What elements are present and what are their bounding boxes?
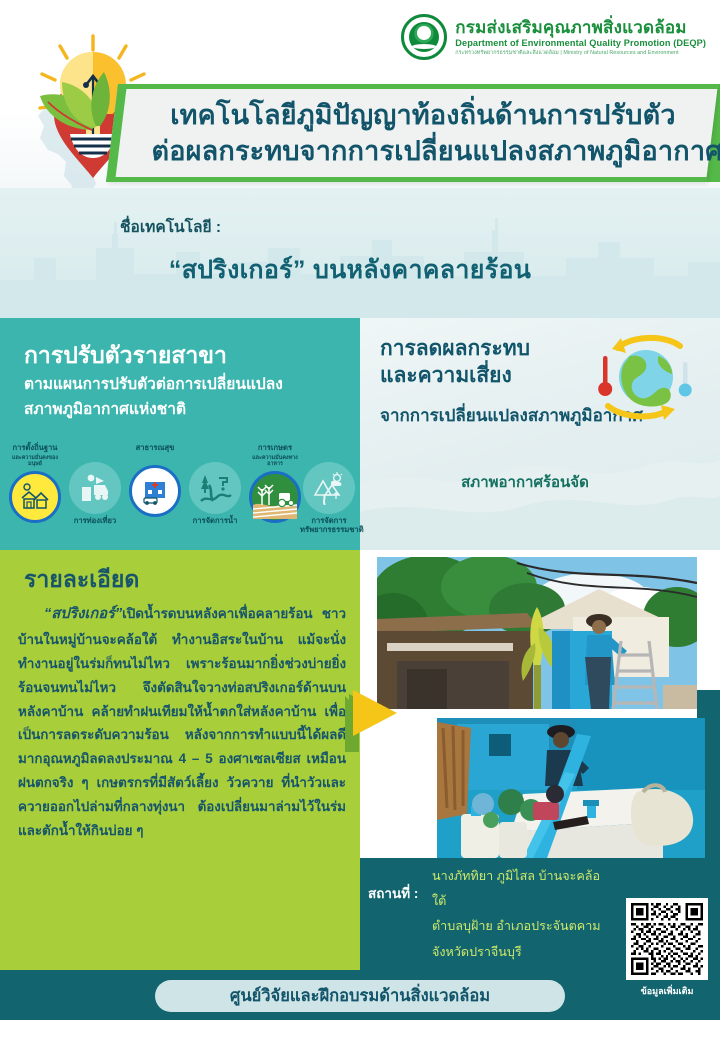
- adaptation-heading: การปรับตัวรายสาขา: [24, 338, 227, 374]
- technology-label: ชื่อเทคโนโลยี :: [120, 214, 221, 239]
- detail-title: รายละเอียด: [24, 562, 139, 598]
- sector-item-agriculture[interactable]: การเกษตร และความมั่นคงทางอาหาร: [246, 444, 304, 523]
- location-lines: นางภัททิยา ภูมิไสล บ้านจะคล้อใต้ ตำบลบุฝ…: [432, 864, 612, 965]
- sector-item-health[interactable]: สาธารณสุข: [126, 444, 184, 517]
- sector-icon-strip: การตั้งถิ่นฐาน และความมั่นคงของมนุษย์: [0, 440, 360, 550]
- sector-item-water[interactable]: การจัดการน้ำ: [186, 462, 244, 526]
- sector-label-settlement: การตั้งถิ่นฐาน: [6, 444, 64, 453]
- poster-title-line1: เทคโนโลยีภูมิปัญญาท้องถิ่นด้านการปรับตัว: [151, 98, 694, 134]
- sector-item-tourism[interactable]: การท่องเที่ยว: [66, 462, 124, 526]
- sector-label-tourism: การท่องเที่ยว: [66, 517, 124, 526]
- adaptation-subheading-text: ตามแผนการปรับตัวต่อการเปลี่ยนแปลง สภาพภู…: [24, 376, 283, 418]
- detail-keyword: “สปริงเกอร์”: [44, 606, 122, 622]
- photo-roof-sprinkler: [377, 557, 697, 709]
- poster-root: กรมส่งเสริมคุณภาพสิ่งแวดล้อม Department …: [0, 0, 720, 1040]
- mitigation-heading: การลดผลกระทบ และความเสี่ยง: [380, 336, 530, 390]
- natural-resources-icon: [303, 462, 355, 514]
- photo-pipe-assembly: [437, 718, 705, 858]
- poster-header: กรมส่งเสริมคุณภาพสิ่งแวดล้อม Department …: [0, 0, 720, 200]
- settlement-icon: [9, 471, 61, 523]
- location-band: สถานที่ : นางภัททิยา ภูมิไสล บ้านจะคล้อใ…: [360, 858, 720, 970]
- agriculture-icon: [249, 471, 301, 523]
- title-ribbon: เทคโนโลยีภูมิปัญญาท้องถิ่นด้านการปรับตัว…: [106, 84, 718, 182]
- qr-code-icon[interactable]: [626, 898, 708, 980]
- detail-body: “สปริงเกอร์”เปิดน้ำรดบนหลังคาเพื่อคลายร้…: [18, 602, 346, 843]
- deqp-logo: กรมส่งเสริมคุณภาพสิ่งแวดล้อม Department …: [401, 14, 706, 60]
- location-line1: นางภัททิยา ภูมิไสล บ้านจะคล้อใต้: [432, 864, 612, 914]
- sector-sublabel-natural-resources: ทรัพยากรธรรมชาติ: [300, 526, 358, 535]
- poster-title-line2: ต่อผลกระทบจากการเปลี่ยนแปลงสภาพภูมิอากาศ: [151, 134, 694, 170]
- location-label: สถานที่ :: [368, 882, 418, 904]
- sector-item-settlement[interactable]: การตั้งถิ่นฐาน และความมั่นคงของมนุษย์: [6, 444, 64, 523]
- qr-caption: ข้อมูลเพิ่มเติม: [626, 984, 708, 998]
- health-icon: [129, 465, 181, 517]
- sector-label-health: สาธารณสุข: [126, 444, 184, 453]
- sector-item-natural-resources[interactable]: การจัดการ ทรัพยากรธรรมชาติ: [300, 462, 358, 535]
- org-name-en: Department of Environmental Quality Prom…: [455, 38, 706, 48]
- location-line2: ตำบลบุฝ้าย อำเภอประจันตคาม: [432, 914, 612, 939]
- detail-panel: รายละเอียด “สปริงเกอร์”เปิดน้ำรดบนหลังคา…: [0, 550, 360, 970]
- technology-name-band: ชื่อเทคโนโลยี : “สปริงเกอร์” บนหลังคาคลา…: [0, 188, 720, 318]
- adaptation-subheading: ตามแผนการปรับตัวต่อการเปลี่ยนแปลง สภาพภู…: [24, 372, 344, 422]
- footer-text: ศูนย์วิจัยและฝึกอบรมด้านสิ่งแวดล้อม: [230, 983, 490, 1009]
- arrow-right-icon: [345, 690, 405, 752]
- sector-label-agriculture: การเกษตร: [246, 444, 304, 453]
- footer-organization-pill: ศูนย์วิจัยและฝึกอบรมด้านสิ่งแวดล้อม: [155, 980, 565, 1012]
- org-ministry: กระทรวงทรัพยากรธรรมชาติและสิ่งแวดล้อม | …: [455, 50, 706, 56]
- location-line3: จังหวัดปราจีนบุรี: [432, 940, 612, 965]
- mitigation-heading-line1: การลดผลกระทบ: [380, 336, 530, 363]
- deqp-seal-icon: [401, 14, 447, 60]
- technology-name: “สปริงเกอร์” บนหลังคาคลายร้อน: [0, 250, 700, 290]
- weather-condition-text: สภาพอากาศร้อนจัด: [360, 470, 690, 494]
- sector-sublabel-settlement: และความมั่นคงของมนุษย์: [6, 456, 64, 468]
- globe-thermometer-icon: [588, 332, 698, 422]
- mitigation-heading-line2: และความเสี่ยง: [380, 363, 530, 390]
- detail-body-text: เปิดน้ำรดบนหลังคาเพื่อคลายร้อน ชาวบ้านใน…: [18, 606, 346, 838]
- tourism-icon: [69, 462, 121, 514]
- org-name-th: กรมส่งเสริมคุณภาพสิ่งแวดล้อม: [455, 18, 706, 37]
- water-management-icon: [189, 462, 241, 514]
- sector-sublabel-agriculture: และความมั่นคงทางอาหาร: [246, 456, 304, 468]
- footer-white-strip: [0, 1020, 720, 1040]
- mitigation-panel: การลดผลกระทบ และความเสี่ยง จากการเปลี่ยน…: [360, 318, 720, 550]
- sector-label-water: การจัดการน้ำ: [186, 517, 244, 526]
